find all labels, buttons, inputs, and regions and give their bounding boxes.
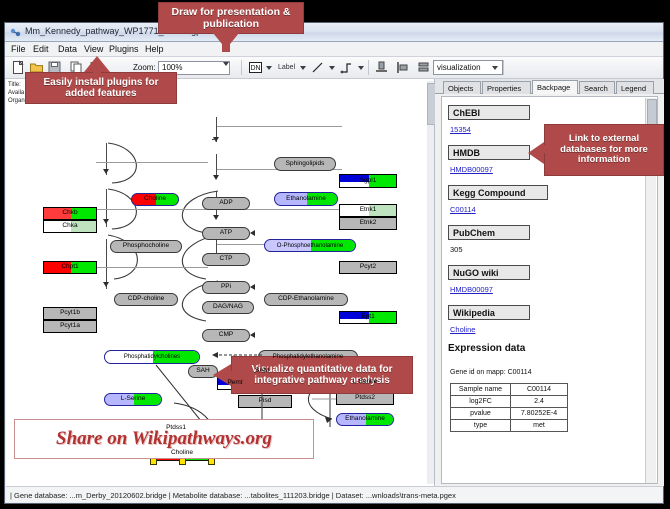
stub-chpt1 xyxy=(96,209,208,210)
node-atp[interactable]: ATP xyxy=(202,227,250,240)
db-link-hmdb[interactable]: HMDB00097 xyxy=(450,165,493,174)
tab-search[interactable]: Search xyxy=(579,81,615,94)
db-header-nugo: NuGO wiki xyxy=(448,265,530,280)
toolbar-separator xyxy=(241,60,242,75)
selection-handle-s[interactable] xyxy=(179,458,186,465)
tab-objects[interactable]: Objects xyxy=(443,81,481,94)
zoom-label: Zoom: xyxy=(133,63,156,72)
datanode-dropdown-arrow[interactable] xyxy=(266,66,272,70)
callout-link: Link to external databases for more info… xyxy=(544,124,664,176)
callout-share: Share on Wikipathways.org xyxy=(14,419,314,459)
expression-data-title: Expression data xyxy=(448,343,525,354)
callout-draw-stem xyxy=(222,34,230,52)
row-key-log2fc: log2FC xyxy=(451,396,511,408)
status-bar: | Gene database: ...m_Derby_20120602.bri… xyxy=(6,486,662,502)
node-sphingolipids[interactable]: Sphingolipids xyxy=(274,157,336,171)
align-bottom-icon[interactable] xyxy=(374,60,389,75)
node-pcyt1a[interactable]: Pcyt1a xyxy=(43,320,97,333)
node-sgpl1[interactable]: Sgpl1 xyxy=(339,174,397,188)
label-dropdown-arrow[interactable] xyxy=(300,66,306,70)
title-bar: Mm_Kennedy_pathway_WP1771_45176.gpml xyxy=(5,23,663,42)
selection-handle-sw[interactable] xyxy=(150,458,157,465)
row-val-type: met xyxy=(511,420,568,432)
node-pcyt1b[interactable]: Pcyt1b xyxy=(43,307,97,320)
node-chka[interactable]: Chka xyxy=(43,220,97,233)
node-choline-top[interactable]: Choline xyxy=(131,193,179,206)
meta-available: Availa xyxy=(8,89,26,97)
tab-legend[interactable]: Legend xyxy=(616,81,654,94)
db-value-pubchem: 305 xyxy=(450,245,463,254)
share-text: Share on Wikipathways.org xyxy=(56,428,272,450)
db-link-wikipedia[interactable]: Choline xyxy=(450,325,475,334)
db-header-hmdb: HMDB xyxy=(448,145,530,160)
db-header-wikipedia: Wikipedia xyxy=(448,305,530,320)
row-key-type: type xyxy=(451,420,511,432)
menu-item-view[interactable]: View xyxy=(84,44,103,54)
stub-pcyt1 xyxy=(96,267,208,268)
node-ept1[interactable]: Ept1 xyxy=(339,311,397,324)
node-chkb[interactable]: Chkb xyxy=(43,207,97,220)
label-tool-label[interactable]: Label xyxy=(278,64,295,71)
line-icon[interactable] xyxy=(310,60,325,75)
stub-sgpl1 xyxy=(217,126,342,127)
menu-item-file[interactable]: File xyxy=(11,44,26,54)
zoom-dropdown-arrow[interactable] xyxy=(223,62,229,66)
callout-plugins-stem xyxy=(93,66,101,76)
side-panel-tabstrip: Objects Properties Backpage Search Legen… xyxy=(435,79,664,94)
stub-chk xyxy=(96,162,208,163)
node-etnk1[interactable]: Etnk1 xyxy=(339,204,397,217)
callout-link-stem xyxy=(540,145,548,153)
line-dropdown-arrow[interactable] xyxy=(329,66,335,70)
svg-text:DN: DN xyxy=(250,65,260,72)
align-left-icon[interactable] xyxy=(395,60,410,75)
meta-title: Title: xyxy=(8,81,26,89)
toolbar-separator-2 xyxy=(368,60,369,75)
table-row: type met xyxy=(451,420,568,432)
row-val-sample-name: C00114 xyxy=(511,384,568,396)
db-link-kegg[interactable]: C00114 xyxy=(450,205,476,214)
row-key-sample-name: Sample name xyxy=(451,384,511,396)
menu-item-help[interactable]: Help xyxy=(145,44,164,54)
callout-visualize: Visualize quantitative data for integrat… xyxy=(231,356,413,394)
toolbar-separator-3 xyxy=(503,60,504,75)
pathway-meta: Title: Availa Organi xyxy=(8,81,26,105)
db-header-kegg: Kegg Compound xyxy=(448,185,548,200)
new-file-icon[interactable] xyxy=(11,60,26,75)
table-row: pvalue 7.80252E-4 xyxy=(451,408,568,420)
db-link-nugo[interactable]: HMDB00097 xyxy=(450,285,493,294)
table-row: log2FC 2.4 xyxy=(451,396,568,408)
menu-item-plugins[interactable]: Plugins xyxy=(109,44,139,54)
tab-backpage[interactable]: Backpage xyxy=(532,80,578,94)
canvas-vertical-scrollbar[interactable] xyxy=(427,81,434,484)
node-cdp-ethanolamine[interactable]: CDP-Ethanolamine xyxy=(264,293,348,306)
menu-bar: File Edit Data View Plugins Help xyxy=(5,42,663,57)
node-etnk2[interactable]: Etnk2 xyxy=(339,217,397,230)
node-cmp[interactable]: CMP xyxy=(202,329,250,342)
row-key-pvalue: pvalue xyxy=(451,408,511,420)
db-link-chebi[interactable]: 15354 xyxy=(450,125,471,134)
row-val-log2fc: 2.4 xyxy=(511,396,568,408)
connector-icon[interactable] xyxy=(339,60,354,75)
db-header-pubchem: PubChem xyxy=(448,225,530,240)
tab-properties[interactable]: Properties xyxy=(482,81,531,94)
db-header-chebi: ChEBI xyxy=(448,105,530,120)
menu-item-data[interactable]: Data xyxy=(58,44,77,54)
visualization-dropdown-arrow[interactable] xyxy=(492,66,498,70)
pathvisio-icon xyxy=(10,27,21,38)
menu-item-edit[interactable]: Edit xyxy=(33,44,49,54)
node-phosphocholine[interactable]: Phosphocholine xyxy=(110,240,182,253)
node-cdp-choline[interactable]: CDP-choline xyxy=(114,293,178,306)
connector-dropdown-arrow[interactable] xyxy=(358,66,364,70)
node-ethanolamine-top[interactable]: Ethanolamine xyxy=(274,192,338,206)
meta-organism: Organi xyxy=(8,97,26,105)
arrow-to-ppi xyxy=(250,284,255,290)
expression-table: Sample name C00114 log2FC 2.4 pvalue 7.8… xyxy=(450,383,568,432)
node-ppi[interactable]: PPi xyxy=(202,281,250,294)
selection-handle-se[interactable] xyxy=(208,458,215,465)
table-row: Sample name C00114 xyxy=(451,384,568,396)
node-ctp[interactable]: CTP xyxy=(202,253,250,266)
arrow-to-atp xyxy=(250,230,255,236)
callout-plugins: Easily install plugins for added feature… xyxy=(25,72,177,104)
node-chpt1[interactable]: Chpt1 xyxy=(43,261,97,274)
callout-visualize-stem xyxy=(226,371,234,379)
row-val-pvalue: 7.80252E-4 xyxy=(511,408,568,420)
callout-draw: Draw for presentation & publication xyxy=(158,2,304,34)
node-pcyt2[interactable]: Pcyt2 xyxy=(339,261,397,274)
align-stack-icon[interactable] xyxy=(416,60,431,75)
node-o-phosphoethanolamine[interactable]: O-Phosphoethanolamine xyxy=(264,239,356,252)
node-adp[interactable]: ADP xyxy=(202,197,250,210)
screenshot-root: Mm_Kennedy_pathway_WP1771_45176.gpml Fil… xyxy=(0,0,670,509)
node-dagnag[interactable]: DAG/NAG xyxy=(202,301,254,314)
gene-id-on-mapp: Gene id on mapp: C00114 xyxy=(450,369,532,376)
arrow-to-cmp xyxy=(250,332,255,338)
datanode-icon[interactable]: DN xyxy=(248,60,263,75)
